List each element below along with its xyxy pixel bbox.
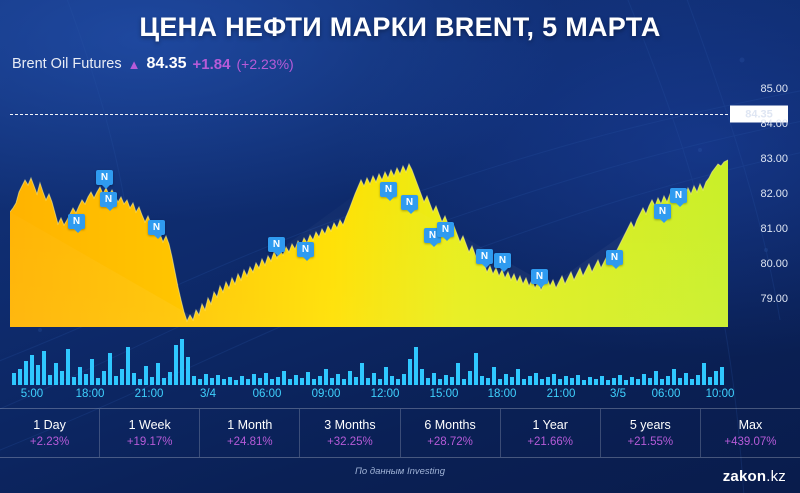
x-tick-label: 3/5 — [610, 388, 626, 400]
price-plot-area: N N N N N N N N N N N N N N N N — [10, 82, 728, 327]
news-marker[interactable]: N — [100, 192, 117, 207]
news-marker[interactable]: N — [380, 182, 397, 197]
news-marker[interactable]: N — [96, 170, 113, 185]
news-marker[interactable]: N — [670, 188, 687, 203]
news-marker[interactable]: N — [437, 222, 454, 237]
volume-chart — [10, 333, 728, 385]
period-label: 3 Months — [324, 418, 375, 432]
price-chart: N N N N N N N N N N N N N N N N 85.00 84… — [10, 82, 790, 332]
y-tick-label: 82.00 — [760, 188, 788, 200]
period-cell-max[interactable]: Max +439.07% — [701, 409, 800, 457]
period-value: +439.07% — [724, 436, 776, 448]
period-label: 1 Year — [532, 418, 567, 432]
news-marker[interactable]: N — [148, 220, 165, 235]
price-area-svg — [10, 82, 728, 327]
period-cell-1-week[interactable]: 1 Week +19.17% — [100, 409, 200, 457]
period-value: +19.17% — [127, 436, 173, 448]
y-tick-label: 85.00 — [760, 83, 788, 95]
price-change: +1.84 — [193, 56, 231, 73]
y-tick-label: 81.00 — [760, 223, 788, 235]
x-tick-label: 10:00 — [706, 388, 735, 400]
period-value: +21.55% — [627, 436, 673, 448]
x-tick-label: 21:00 — [135, 388, 164, 400]
x-tick-label: 15:00 — [430, 388, 459, 400]
period-label: Max — [739, 418, 763, 432]
price-axis: 85.00 84.35 84.00 83.00 82.00 81.00 80.0… — [730, 82, 790, 327]
news-marker[interactable]: N — [268, 237, 285, 252]
price-change-percent: (+2.23%) — [236, 56, 293, 72]
news-marker[interactable]: N — [606, 250, 623, 265]
instrument-summary: Brent Oil Futures ▲ 84.35 +1.84 (+2.23%) — [12, 55, 294, 73]
period-value: +24.81% — [227, 436, 273, 448]
site-logo: zakon.kz — [723, 468, 786, 485]
source-credit: По данным Investing — [0, 466, 800, 477]
period-cell-3-months[interactable]: 3 Months +32.25% — [300, 409, 400, 457]
news-marker[interactable]: N — [401, 195, 418, 210]
period-cell-1-year[interactable]: 1 Year +21.66% — [501, 409, 601, 457]
period-label: 1 Month — [227, 418, 272, 432]
news-marker[interactable]: N — [654, 204, 671, 219]
x-tick-label: 18:00 — [488, 388, 517, 400]
period-label: 1 Week — [129, 418, 171, 432]
news-marker[interactable]: N — [297, 242, 314, 257]
period-cell-1-day[interactable]: 1 Day +2.23% — [0, 409, 100, 457]
period-cell-6-months[interactable]: 6 Months +28.72% — [401, 409, 501, 457]
news-marker[interactable]: N — [494, 253, 511, 268]
up-arrow-icon: ▲ — [128, 58, 141, 71]
period-label: 1 Day — [33, 418, 66, 432]
period-cell-5-years[interactable]: 5 years +21.55% — [601, 409, 701, 457]
y-tick-label: 80.00 — [760, 258, 788, 270]
current-price: 84.35 — [146, 55, 186, 73]
logo-text: zakon — [723, 468, 767, 485]
news-marker[interactable]: N — [531, 269, 548, 284]
last-price-dashed-line — [10, 114, 728, 115]
x-tick-label: 12:00 — [371, 388, 400, 400]
x-tick-label: 21:00 — [547, 388, 576, 400]
time-axis: 5:00 18:00 21:00 3/4 06:00 09:00 12:00 1… — [10, 388, 728, 404]
y-tick-label: 79.00 — [760, 293, 788, 305]
period-label: 6 Months — [424, 418, 475, 432]
period-performance-table: 1 Day +2.23% 1 Week +19.17% 1 Month +24.… — [0, 408, 800, 458]
period-value: +21.66% — [527, 436, 573, 448]
logo-suffix: .kz — [766, 468, 786, 485]
x-tick-label: 09:00 — [312, 388, 341, 400]
period-cell-1-month[interactable]: 1 Month +24.81% — [200, 409, 300, 457]
x-tick-label: 18:00 — [76, 388, 105, 400]
period-value: +32.25% — [327, 436, 373, 448]
x-tick-label: 5:00 — [21, 388, 43, 400]
news-marker[interactable]: N — [476, 249, 493, 264]
x-tick-label: 06:00 — [652, 388, 681, 400]
page-title: ЦЕНА НЕФТИ МАРКИ BRENT, 5 МАРТА — [0, 12, 800, 43]
volume-bars-svg — [10, 333, 728, 385]
x-tick-label: 3/4 — [200, 388, 216, 400]
instrument-name: Brent Oil Futures — [12, 56, 122, 72]
period-value: +28.72% — [427, 436, 473, 448]
y-tick-label: 83.00 — [760, 153, 788, 165]
x-tick-label: 06:00 — [253, 388, 282, 400]
period-value: +2.23% — [30, 436, 69, 448]
y-tick-label: 84.00 — [760, 118, 788, 130]
page-background: ЦЕНА НЕФТИ МАРКИ BRENT, 5 МАРТА Brent Oi… — [0, 0, 800, 493]
news-marker[interactable]: N — [68, 214, 85, 229]
period-label: 5 years — [630, 418, 671, 432]
